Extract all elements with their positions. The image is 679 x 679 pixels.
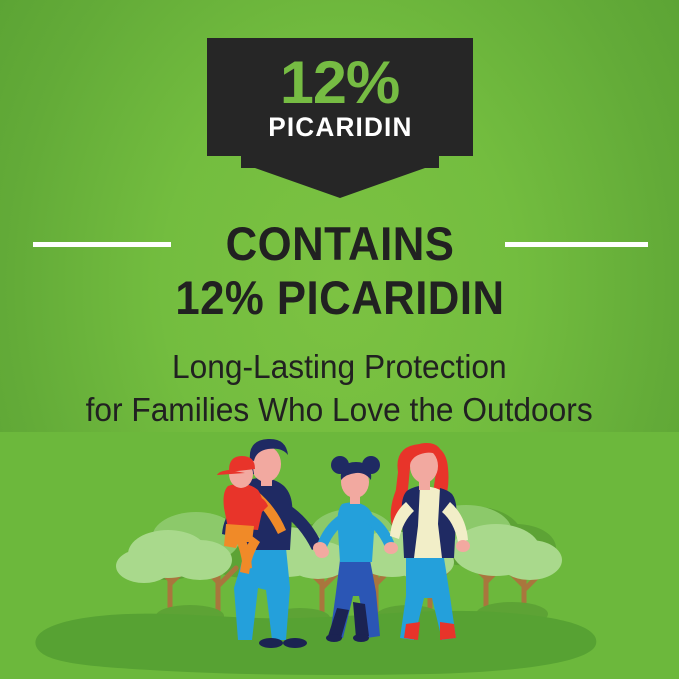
picaridin-badge: 12% PICARIDIN xyxy=(207,38,473,198)
subtitle-line-1: Long-Lasting Protection xyxy=(172,345,507,388)
product-feature-graphic: 12% PICARIDIN CONTAINS 12% PICARIDIN Lon… xyxy=(0,0,679,679)
family-outdoors-illustration xyxy=(0,432,679,679)
badge-shield-shape xyxy=(207,38,473,198)
subtitle-row-2: for Families Who Love the Outdoors xyxy=(0,388,679,431)
headline-first-row: CONTAINS xyxy=(0,218,679,270)
headline-block: CONTAINS 12% PICARIDIN xyxy=(0,218,679,324)
headline-line-1: CONTAINS xyxy=(225,218,454,270)
subtitle-block: Long-Lasting Protection for Families Who… xyxy=(0,345,679,431)
headline-rule-right xyxy=(505,242,648,247)
ground-blob xyxy=(35,611,596,675)
subtitle-row-1: Long-Lasting Protection xyxy=(0,345,679,388)
headline-second-row: 12% PICARIDIN xyxy=(0,270,679,324)
subtitle-line-2: for Families Who Love the Outdoors xyxy=(86,388,593,431)
headline-line-2: 12% PICARIDIN xyxy=(175,272,504,324)
illustration-svg xyxy=(0,432,679,679)
headline-rule-left xyxy=(33,242,171,247)
